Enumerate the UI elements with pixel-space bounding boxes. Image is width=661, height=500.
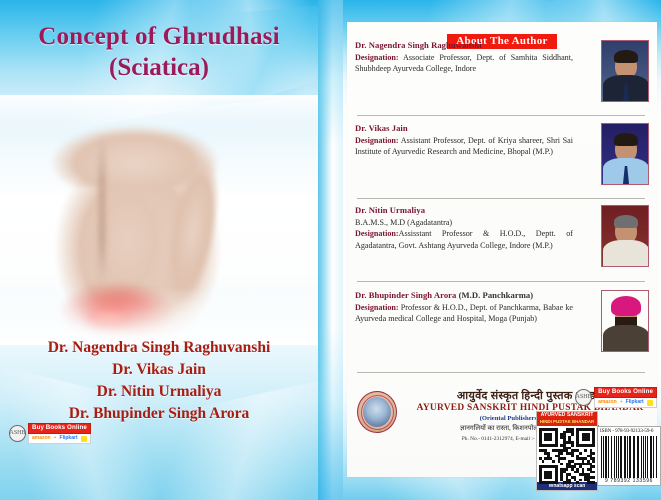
hair-shape [614,50,638,63]
author-entry: Dr. Bhupinder Singh Arora (M.D. Panchkar… [355,290,649,352]
section-divider [357,198,645,199]
hair-shape [614,215,638,228]
buy-books-online-badge-front[interactable]: ASHB Buy Books Online amazon + Flipkart [9,423,91,444]
author-designation-3: Designation:Assisstant Professor & H.O.D… [355,228,573,251]
author-text-4: Dr. Bhupinder Singh Arora (M.D. Panchkar… [355,290,573,325]
author-designation-2: Designation: Assistant Professor, Dept. … [355,135,573,158]
flipkart-label: Flipkart [60,436,78,441]
section-divider [357,372,645,373]
flipkart-label: Flipkart [626,400,644,405]
badge-separator: + [54,436,57,441]
designation-label-3: Designation: [355,229,399,238]
author-name-4: Dr. Bhupinder Singh Arora (M.D. Panchkar… [355,290,573,302]
author-photo-1 [601,40,649,102]
designation-label-2: Designation: [355,136,399,145]
logo-ring [361,395,394,430]
author-name-2: Dr. Vikas Jain [355,123,573,135]
front-author-list: Dr. Nagendra Singh Raghuvanshi Dr. Vikas… [0,337,318,425]
back-cover: About The Author Dr. Nagendra Singh Ragh… [343,0,661,500]
author-text-2: Dr. Vikas Jain Designation: Assistant Pr… [355,123,573,158]
author-photo-4 [601,290,649,352]
amazon-label: amazon [598,400,617,405]
designation-label-1: Designation: [355,53,399,62]
author-name-4-suffix: (M.D. Panchkarma) [456,290,533,300]
book-cover-spread: Concept of Ghrudhasi (Sciatica) Dr. Nage… [0,0,661,500]
photo-fade-top [0,95,318,135]
author-entry: Dr. Nitin Urmaliya B.A.M.S., M.D (Agadat… [355,205,649,267]
author-photo-3 [601,205,649,267]
buy-books-online-badge-back[interactable]: ASHB Buy Books Online amazon + Flipkart [575,387,657,408]
back-pain-photo [0,95,318,345]
barcode-digits: 9 789392 133596 [599,478,659,485]
isbn-barcode-block: ISBN - 978-93-92133-59-6 9 789392 133596 [597,426,661,486]
author-name-3: Dr. Nitin Urmaliya [355,205,573,217]
qr-header-line1: AYURVED SANSKRIT [541,412,594,418]
turban-shape [611,296,641,316]
book-title-line1: Concept of Ghrudhasi [0,23,318,51]
author-name-4-main: Dr. Bhupinder Singh Arora [355,290,456,300]
section-divider [357,115,645,116]
publisher-logo-icon [357,391,397,433]
barcode-icon [600,436,658,478]
suit-shape [603,325,649,351]
whatsapp-qr-code[interactable]: AYURVED SANSKRIT HINDI PUSTAK BHANDAR Wh… [536,411,598,491]
flipkart-mark-icon [647,400,653,406]
author-photo-2 [601,123,649,185]
buy-badge-heading: Buy Books Online [594,387,657,398]
author-qualification-3: B.A.M.S., M.D (Agadatantra) [355,217,573,228]
author-text-3: Dr. Nitin Urmaliya B.A.M.S., M.D (Agadat… [355,205,573,251]
qr-code-icon [539,428,595,480]
isbn-label: ISBN - 978-93-92133-59-6 [599,428,659,435]
front-author-2: Dr. Vikas Jain [0,359,318,381]
author-name-1: Dr. Nagendra Singh Raghuwanshi [355,40,573,52]
front-author-3: Dr. Nitin Urmaliya [0,381,318,403]
buy-badge-heading: Buy Books Online [28,423,91,434]
publisher-subtitle: (Oriental Publishers & Booksellers) [399,414,661,424]
front-author-4: Dr. Bhupinder Singh Arora [0,403,318,425]
author-designation-4: Designation: Professor & H.O.D., Dept. o… [355,302,573,325]
hair-shape [614,133,638,146]
front-cover: Concept of Ghrudhasi (Sciatica) Dr. Nage… [0,0,318,500]
amazon-label: amazon [32,436,51,441]
front-author-1: Dr. Nagendra Singh Raghuvanshi [0,337,318,359]
author-entry: Dr. Vikas Jain Designation: Assistant Pr… [355,123,649,185]
section-divider [357,281,645,282]
badge-separator: + [620,400,623,405]
publisher-seal-icon: ASHB [575,389,592,406]
author-designation-1: Designation: Associate Professor, Dept. … [355,52,573,75]
qr-header: AYURVED SANSKRIT HINDI PUSTAK BHANDAR [537,412,597,426]
suit-shape [603,240,649,266]
about-author-panel: About The Author Dr. Nagendra Singh Ragh… [347,22,657,477]
flipkart-mark-icon [81,436,87,442]
author-text-1: Dr. Nagendra Singh Raghuwanshi Designati… [355,40,573,75]
publisher-seal-icon: ASHB [9,425,26,442]
qr-header-line2: HINDI PUSTAK BHANDAR [538,419,596,424]
book-title-line2: (Sciatica) [0,54,318,82]
book-title: Concept of Ghrudhasi (Sciatica) [0,23,318,82]
designation-label-4: Designation: [355,303,399,312]
cover-gutter [318,0,343,500]
author-entry: Dr. Nagendra Singh Raghuwanshi Designati… [355,40,649,102]
